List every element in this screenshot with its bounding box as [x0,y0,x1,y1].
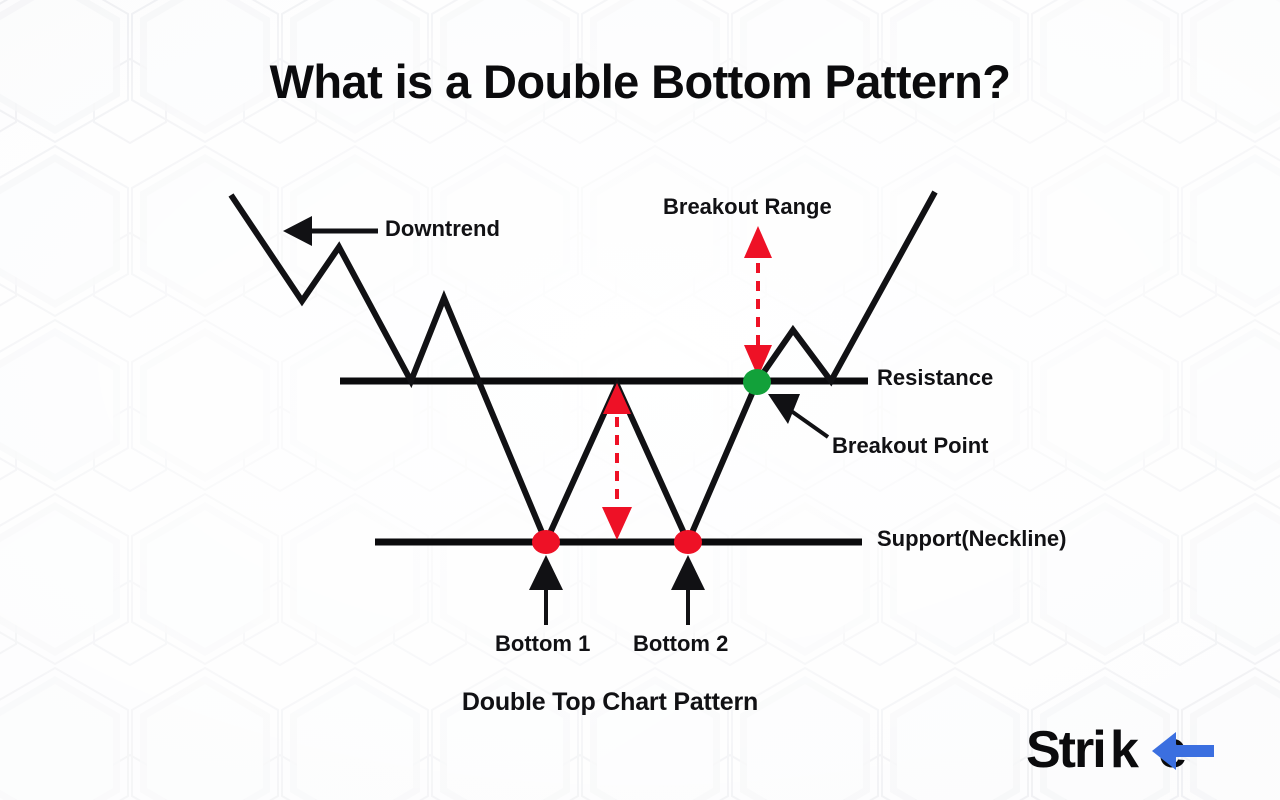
strike-logo-text-k: k [1110,721,1139,779]
label-breakout-range: Breakout Range [663,196,832,218]
label-bottom-2: Bottom 2 [633,633,728,655]
label-downtrend: Downtrend [385,218,500,240]
bottom-1-marker [532,530,560,554]
pattern-height-arrow [602,383,632,540]
breakout-point-callout-arrow [768,394,828,437]
label-resistance: Resistance [877,367,993,389]
bottom-2-callout-arrow [671,555,705,625]
infographic-page: What is a Double Bottom Pattern? [0,0,1280,800]
bottom-2-marker [674,530,702,554]
strike-logo-text-before: Stri [1026,721,1105,779]
strike-logo: Stri k e [1026,720,1258,782]
double-bottom-chart-diagram [0,0,1280,800]
diagram-caption: Double Top Chart Pattern [0,688,1220,717]
breakout-point-marker [743,369,771,395]
label-bottom-1: Bottom 1 [495,633,590,655]
label-support: Support(Neckline) [877,528,1066,550]
bottom-1-callout-arrow [529,555,563,625]
downtrend-arrow [283,216,378,246]
breakout-range-arrow [744,226,772,377]
price-line [231,192,935,542]
label-breakout-point: Breakout Point [832,435,988,457]
